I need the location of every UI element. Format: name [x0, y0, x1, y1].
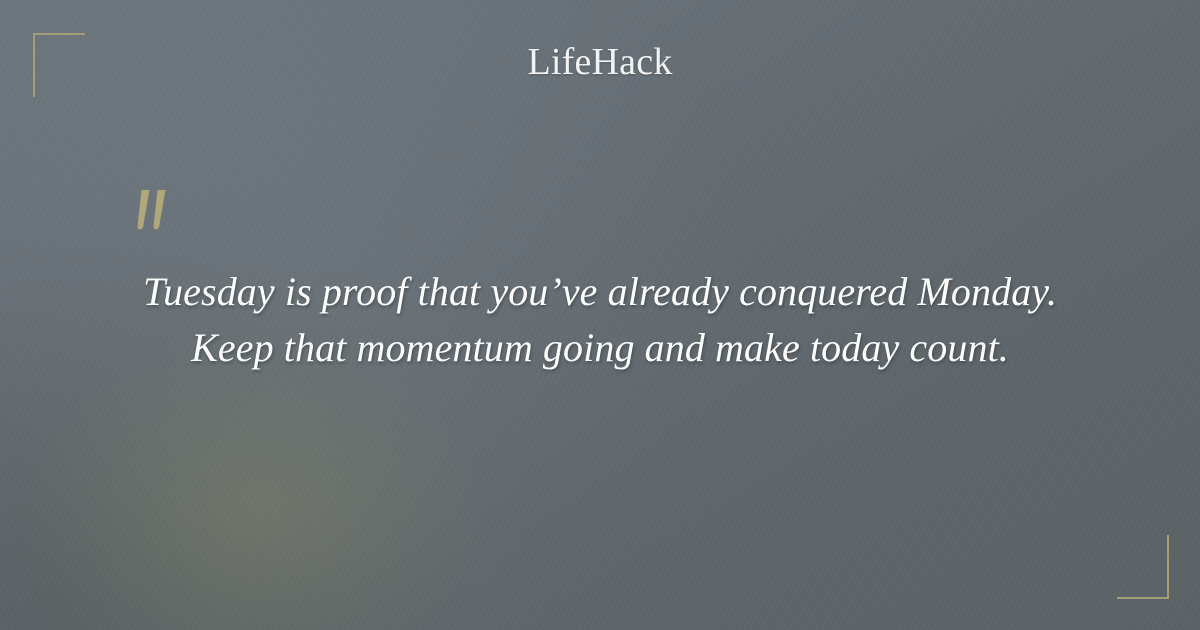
quote-line-2: Keep that momentum going and make today …: [100, 320, 1100, 376]
quote-mark-icon: [131, 186, 191, 248]
lifehack-logo: LifeHack: [0, 40, 1200, 84]
quote-line-1: Tuesday is proof that you’ve already con…: [100, 264, 1100, 320]
quote-text-block: Tuesday is proof that you’ve already con…: [100, 264, 1100, 376]
quote-card: LifeHack Tuesday is proof that you’ve al…: [0, 0, 1200, 630]
corner-bracket-bottom-right-icon: [1117, 535, 1169, 599]
